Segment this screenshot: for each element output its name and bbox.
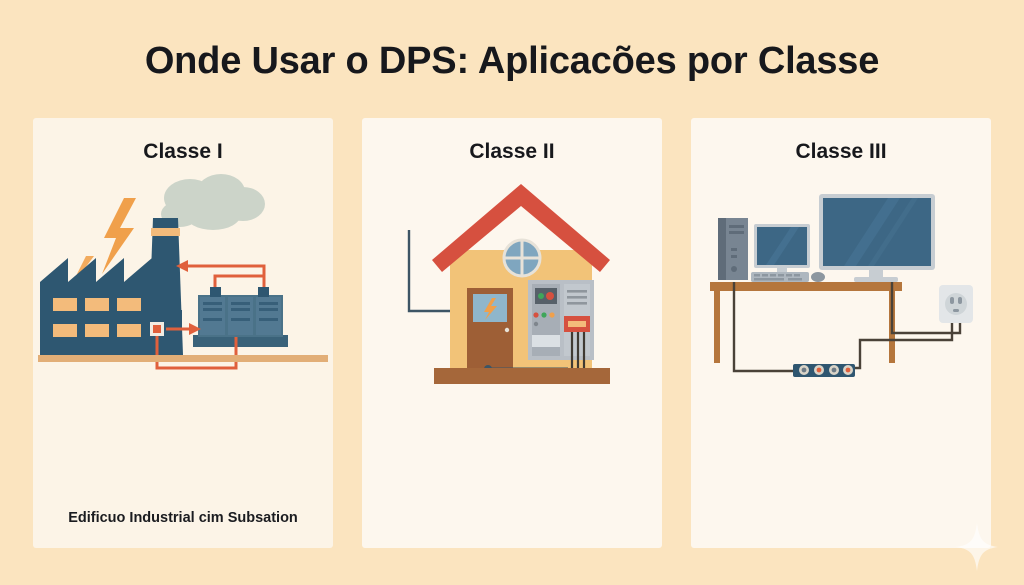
house-door[interactable] xyxy=(467,288,513,368)
ground-line xyxy=(38,355,328,362)
cables xyxy=(734,282,960,371)
industrial-building-substation-illustration xyxy=(33,170,333,420)
door-handle xyxy=(505,328,509,332)
class-card-3[interactable]: Classe III xyxy=(691,118,991,548)
mouse xyxy=(811,272,825,282)
class-card-1-title: Classe I xyxy=(143,140,222,164)
sparkle-star-icon xyxy=(956,523,998,571)
panel-green-indicator xyxy=(538,293,544,299)
pointer-arrow-icon xyxy=(409,230,456,311)
panel-red-indicator xyxy=(546,292,554,300)
residential-house-panel-illustration xyxy=(362,170,662,420)
class-card-1[interactable]: Classe I xyxy=(33,118,333,548)
class-card-2[interactable]: Classe II xyxy=(362,118,662,548)
desk-computer-power-illustration xyxy=(691,170,991,420)
industrial-scene-svg xyxy=(38,170,328,420)
desk xyxy=(710,282,902,363)
house-round-window xyxy=(504,240,540,276)
secondary-monitor xyxy=(754,224,810,279)
pc-tower xyxy=(718,218,748,280)
house-scene-svg xyxy=(372,170,652,420)
class-cards-container: Classe I xyxy=(33,118,991,548)
dps-device-indicator xyxy=(153,325,161,333)
class-card-3-title: Classe III xyxy=(795,140,886,164)
class-card-2-title: Classe II xyxy=(469,140,554,164)
power-strip[interactable] xyxy=(793,364,855,377)
substation-unit xyxy=(193,287,288,347)
workstation-scene-svg xyxy=(696,170,986,420)
keyboard xyxy=(751,272,809,282)
primary-monitor xyxy=(819,194,935,282)
page-title: Onde Usar o DPS: Aplicacões por Classe xyxy=(0,40,1024,83)
house-base xyxy=(434,368,610,384)
class-card-1-sub-caption: Edificuo Industrial cim Subsation xyxy=(33,510,333,526)
wall-outlet[interactable] xyxy=(939,285,973,323)
